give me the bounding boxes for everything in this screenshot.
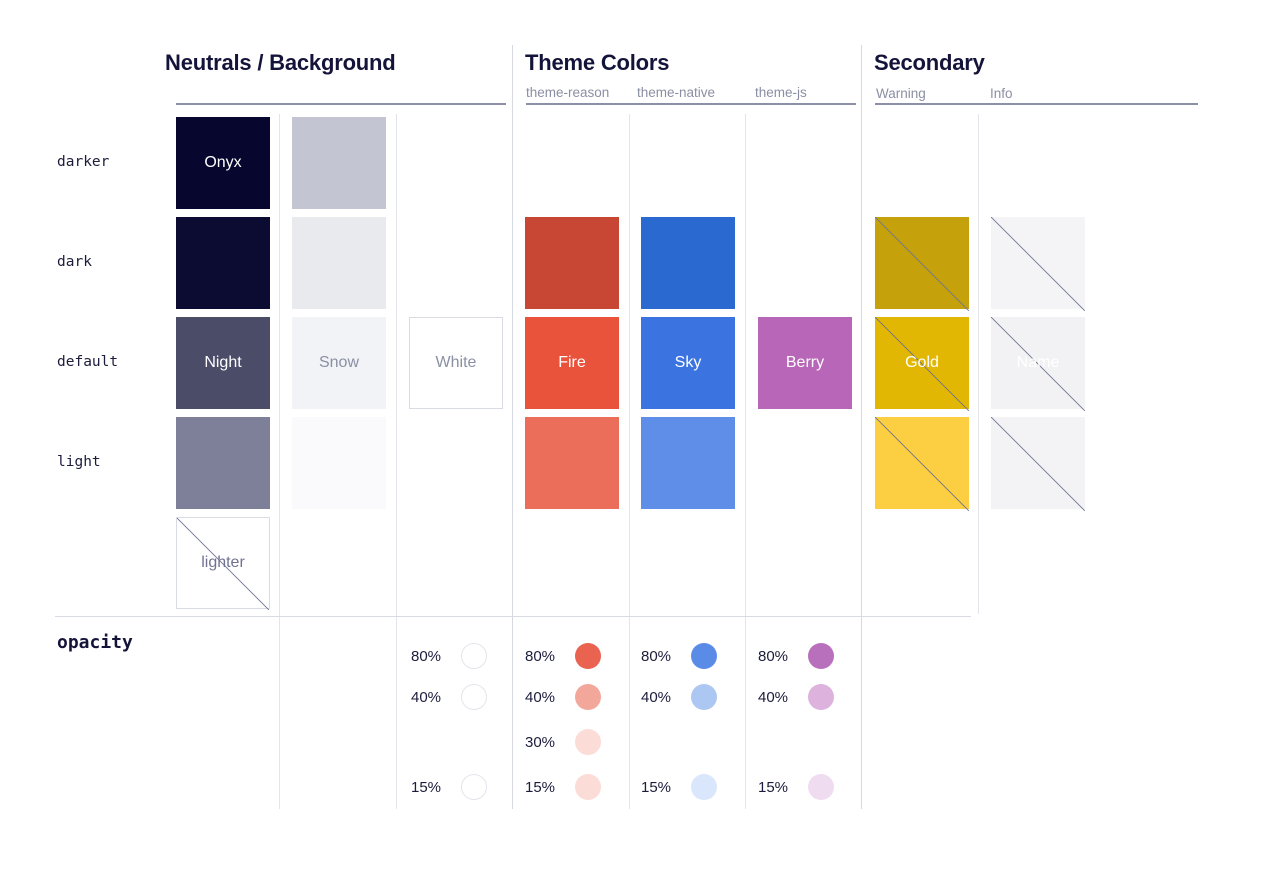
- row-label-default: default: [57, 354, 118, 370]
- opacity-percent-label: 15%: [525, 779, 567, 796]
- opacity-swatch-dot[interactable]: [575, 729, 601, 755]
- swatch-sky-dark[interactable]: [641, 217, 735, 309]
- swatch-info-default[interactable]: Name: [991, 317, 1085, 409]
- opacity-percent-label: 40%: [525, 689, 567, 706]
- section-title-theme: Theme Colors: [525, 50, 669, 76]
- swatch-info-light[interactable]: [991, 417, 1085, 509]
- swatch-onyx-light[interactable]: [176, 417, 270, 509]
- swatch-gold-light[interactable]: [875, 417, 969, 509]
- swatch-fire-light[interactable]: [525, 417, 619, 509]
- swatch-onyx-lighter[interactable]: lighter: [176, 517, 270, 609]
- opacity-step-white-40[interactable]: 40%: [411, 684, 487, 710]
- column-divider-3: [629, 114, 630, 809]
- swatch-gold-dark[interactable]: [875, 217, 969, 309]
- opacity-step-sky-80[interactable]: 80%: [641, 643, 717, 669]
- swatch-name-onyx: lighter: [201, 555, 245, 571]
- opacity-swatch-dot[interactable]: [808, 774, 834, 800]
- opacity-step-berry-40[interactable]: 40%: [758, 684, 834, 710]
- opacity-swatch-dot[interactable]: [461, 774, 487, 800]
- opacity-percent-label: 15%: [641, 779, 683, 796]
- swatch-fire-default[interactable]: Fire: [525, 317, 619, 409]
- swatch-fire-dark[interactable]: [525, 217, 619, 309]
- swatch-white-default[interactable]: White: [409, 317, 503, 409]
- opacity-step-fire-15[interactable]: 15%: [525, 774, 601, 800]
- section-sublabel-theme-0: theme-reason: [526, 85, 609, 100]
- row-label-darker: darker: [57, 154, 109, 170]
- swatch-onyx-darker[interactable]: Onyx: [176, 117, 270, 209]
- diagonal-strike-icon: [991, 217, 1085, 311]
- opacity-percent-label: 80%: [411, 648, 453, 665]
- section-sublabel-theme-1: theme-native: [637, 85, 715, 100]
- swatch-berry-default[interactable]: Berry: [758, 317, 852, 409]
- column-divider-6: [978, 114, 979, 614]
- swatch-name-fire: Fire: [558, 355, 586, 371]
- opacity-heading: opacity: [57, 632, 133, 653]
- opacity-step-sky-40[interactable]: 40%: [641, 684, 717, 710]
- opacity-step-fire-40[interactable]: 40%: [525, 684, 601, 710]
- diagonal-strike-icon: [991, 417, 1085, 511]
- opacity-percent-label: 40%: [641, 689, 683, 706]
- opacity-step-berry-80[interactable]: 80%: [758, 643, 834, 669]
- opacity-percent-label: 40%: [758, 689, 800, 706]
- swatch-sky-light[interactable]: [641, 417, 735, 509]
- row-label-light: light: [57, 454, 101, 470]
- opacity-section-divider: [55, 616, 971, 617]
- opacity-percent-label: 15%: [758, 779, 800, 796]
- column-divider-0: [279, 114, 280, 809]
- opacity-swatch-dot[interactable]: [808, 643, 834, 669]
- swatch-info-dark[interactable]: [991, 217, 1085, 309]
- swatch-gold-default[interactable]: Gold: [875, 317, 969, 409]
- swatch-name-onyx: Onyx: [204, 155, 241, 171]
- swatch-name-snow: Snow: [319, 355, 359, 371]
- opacity-step-sky-15[interactable]: 15%: [641, 774, 717, 800]
- section-rule-neutrals: [176, 103, 506, 105]
- opacity-percent-label: 80%: [525, 648, 567, 665]
- opacity-percent-label: 30%: [525, 734, 567, 751]
- swatch-name-berry: Berry: [786, 355, 824, 371]
- opacity-swatch-dot[interactable]: [808, 684, 834, 710]
- opacity-step-berry-15[interactable]: 15%: [758, 774, 834, 800]
- swatch-onyx-default[interactable]: Night: [176, 317, 270, 409]
- swatch-snow-default[interactable]: Snow: [292, 317, 386, 409]
- column-divider-4: [745, 114, 746, 809]
- swatch-name-sky: Sky: [675, 355, 702, 371]
- section-title-neutrals: Neutrals / Background: [165, 50, 396, 76]
- section-sublabel-secondary-1: Info: [990, 86, 1013, 101]
- diagonal-strike-icon: [875, 417, 969, 511]
- opacity-swatch-dot[interactable]: [575, 643, 601, 669]
- swatch-name-info: Name: [1017, 355, 1060, 371]
- section-rule-theme: [526, 103, 856, 105]
- opacity-swatch-dot[interactable]: [575, 774, 601, 800]
- swatch-name-white: White: [436, 355, 477, 371]
- swatch-sky-default[interactable]: Sky: [641, 317, 735, 409]
- opacity-swatch-dot[interactable]: [461, 643, 487, 669]
- opacity-percent-label: 80%: [758, 648, 800, 665]
- opacity-swatch-dot[interactable]: [575, 684, 601, 710]
- opacity-step-fire-30[interactable]: 30%: [525, 729, 601, 755]
- section-sublabel-secondary-0: Warning: [876, 86, 926, 101]
- opacity-step-white-15[interactable]: 15%: [411, 774, 487, 800]
- opacity-swatch-dot[interactable]: [461, 684, 487, 710]
- row-label-dark: dark: [57, 254, 92, 270]
- section-title-secondary: Secondary: [874, 50, 985, 76]
- swatch-onyx-dark[interactable]: [176, 217, 270, 309]
- opacity-percent-label: 80%: [641, 648, 683, 665]
- opacity-percent-label: 40%: [411, 689, 453, 706]
- column-divider-5: [861, 45, 862, 809]
- opacity-swatch-dot[interactable]: [691, 774, 717, 800]
- swatch-snow-darker[interactable]: [292, 117, 386, 209]
- column-divider-1: [396, 114, 397, 809]
- opacity-percent-label: 15%: [411, 779, 453, 796]
- opacity-swatch-dot[interactable]: [691, 684, 717, 710]
- swatch-snow-light[interactable]: [292, 417, 386, 509]
- swatch-name-gold: Gold: [905, 355, 939, 371]
- swatch-name-onyx: Night: [204, 355, 241, 371]
- swatch-snow-dark[interactable]: [292, 217, 386, 309]
- section-rule-secondary: [875, 103, 1198, 105]
- opacity-step-white-80[interactable]: 80%: [411, 643, 487, 669]
- diagonal-strike-icon: [875, 217, 969, 311]
- opacity-swatch-dot[interactable]: [691, 643, 717, 669]
- section-sublabel-theme-2: theme-js: [755, 85, 807, 100]
- opacity-step-fire-80[interactable]: 80%: [525, 643, 601, 669]
- column-divider-2: [512, 45, 513, 809]
- color-palette-board: Neutrals / BackgroundTheme Colorstheme-r…: [0, 0, 1280, 872]
